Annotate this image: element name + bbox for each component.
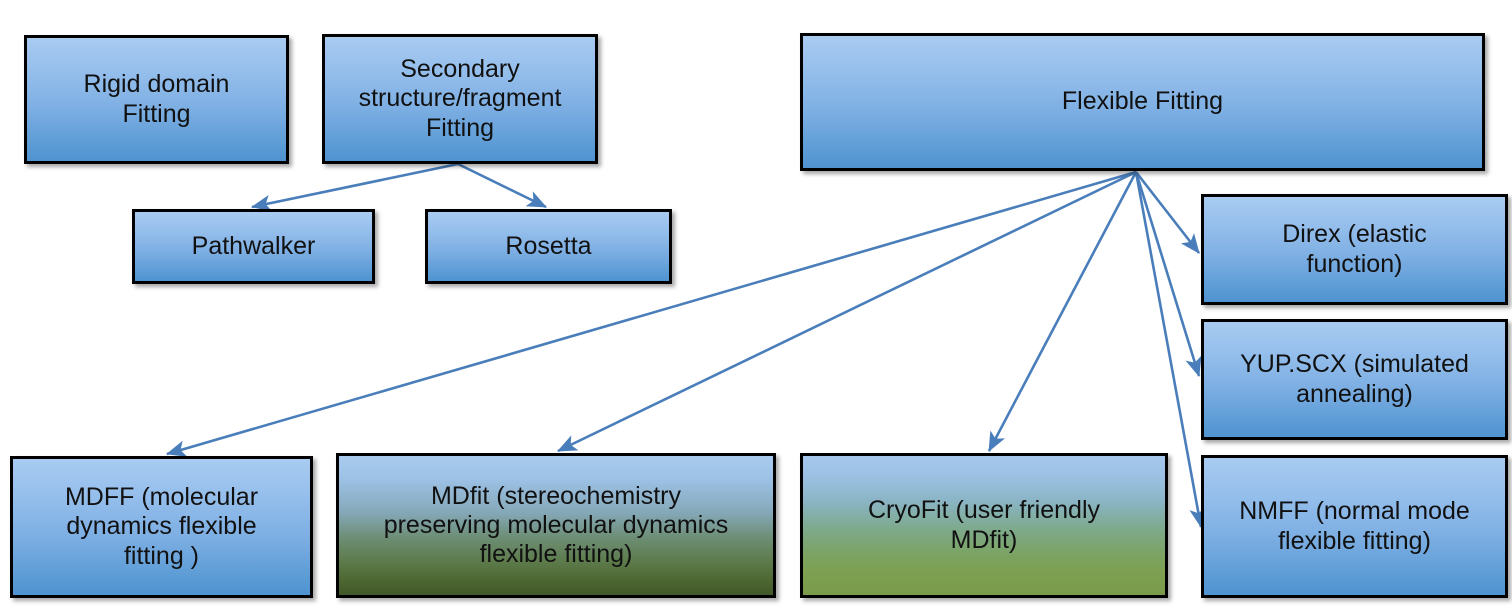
edge-flexible-to-yupscx	[1136, 172, 1199, 376]
edge-secondary-to-pathwalker	[252, 164, 458, 207]
node-secondary-structure-fragment-fitting[interactable]: Secondary structure/fragment Fitting	[322, 34, 598, 164]
node-mdff[interactable]: MDFF (molecular dynamics flexible fittin…	[10, 456, 313, 598]
node-label-rosetta: Rosetta	[436, 232, 661, 261]
node-label-nmff: NMFF (normal mode flexible fitting)	[1212, 497, 1497, 556]
edge-flexible-to-cryofit	[989, 172, 1136, 451]
node-yupscx[interactable]: YUP.SCX (simulated annealing)	[1201, 319, 1508, 440]
node-label-secondary-structure-fragment-fitting: Secondary structure/fragment Fitting	[333, 55, 587, 143]
node-label-direx: Direx (elastic function)	[1212, 220, 1497, 279]
node-label-cryofit: CryoFit (user friendly MDfit)	[811, 496, 1157, 555]
node-rigid-domain-fitting[interactable]: Rigid domain Fitting	[24, 35, 289, 164]
node-label-pathwalker: Pathwalker	[143, 232, 364, 261]
node-rosetta[interactable]: Rosetta	[425, 209, 672, 284]
edge-flexible-to-direx	[1136, 172, 1199, 253]
node-label-yupscx: YUP.SCX (simulated annealing)	[1212, 350, 1497, 409]
edge-secondary-to-rosetta	[458, 164, 546, 207]
node-label-mdfit: MDfit (stereochemistry preserving molecu…	[347, 482, 765, 570]
node-mdfit[interactable]: MDfit (stereochemistry preserving molecu…	[336, 453, 776, 598]
node-pathwalker[interactable]: Pathwalker	[132, 209, 375, 284]
node-flexible-fitting[interactable]: Flexible Fitting	[800, 33, 1485, 171]
node-label-flexible-fitting: Flexible Fitting	[811, 87, 1474, 116]
diagram-canvas: Rigid domain FittingSecondary structure/…	[0, 0, 1512, 610]
node-nmff[interactable]: NMFF (normal mode flexible fitting)	[1201, 455, 1508, 598]
node-label-rigid-domain-fitting: Rigid domain Fitting	[35, 70, 278, 129]
node-direx[interactable]: Direx (elastic function)	[1201, 194, 1508, 305]
node-cryofit[interactable]: CryoFit (user friendly MDfit)	[800, 453, 1168, 598]
node-label-mdff: MDFF (molecular dynamics flexible fittin…	[21, 483, 302, 571]
